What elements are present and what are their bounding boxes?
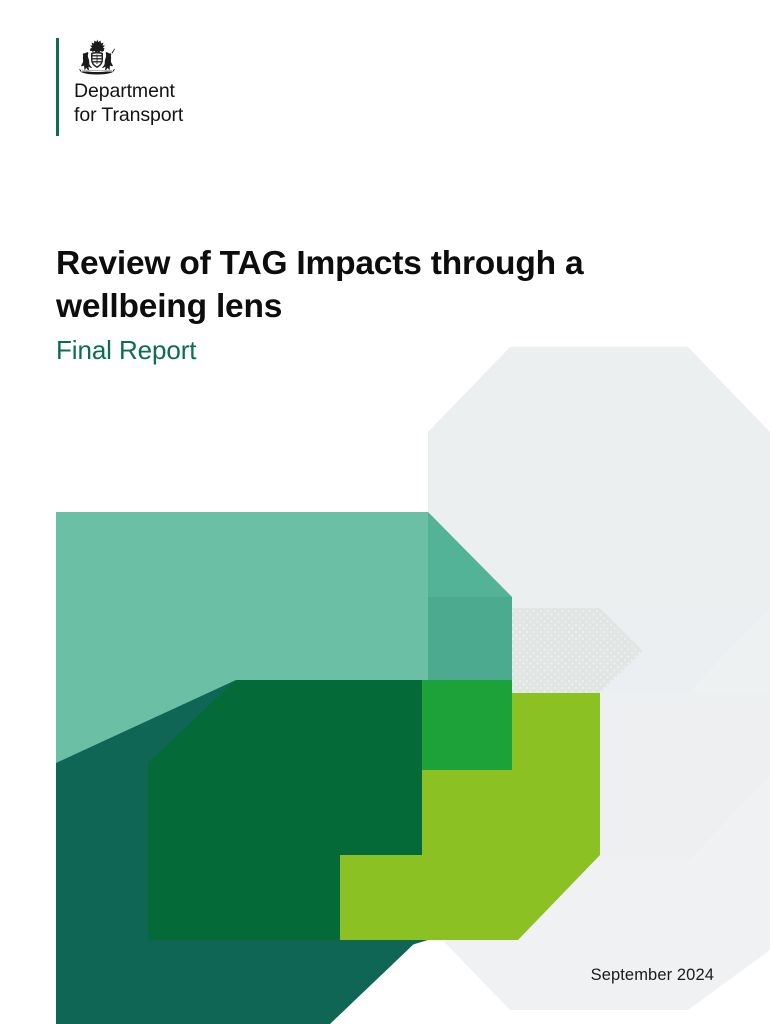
hexagon-dark-green <box>148 680 512 940</box>
logo-wordmark: Department for Transport <box>74 80 183 128</box>
hexagon-grey-upper <box>428 347 770 693</box>
overlap-bright-green <box>422 680 512 770</box>
logo-body: Department for Transport <box>59 38 183 136</box>
page-subtitle: Final Report <box>56 334 696 368</box>
teal-grey-seam <box>428 597 512 680</box>
hexagon-grey-bottom-right <box>428 693 770 1010</box>
grey-dot-texture-patch <box>512 608 643 693</box>
deep-teal-bottom-left <box>56 770 418 1024</box>
hexagon-grey-lower <box>428 608 770 861</box>
hexagon-teal <box>56 512 512 855</box>
dft-logo: Department for Transport <box>56 38 183 136</box>
logo-line-department: Department <box>74 80 183 104</box>
hexagon-deep-teal <box>56 680 512 1024</box>
hexagon-dark-green-upper-left <box>148 680 422 940</box>
title-block: Review of TAG Impacts through a wellbein… <box>56 243 696 368</box>
overlap-dark-green-lime <box>340 770 512 940</box>
cover-page: Department for Transport Review of TAG I… <box>0 0 770 1024</box>
hexagon-lime <box>340 680 600 940</box>
cover-graphic <box>0 0 770 1024</box>
logo-line-for-transport: for Transport <box>74 104 183 128</box>
page-title: Review of TAG Impacts through a wellbein… <box>56 243 696 328</box>
publication-date: September 2024 <box>591 966 714 985</box>
hexagon-teal-grey-overlap <box>428 512 512 770</box>
royal-coat-of-arms-icon <box>74 38 120 76</box>
